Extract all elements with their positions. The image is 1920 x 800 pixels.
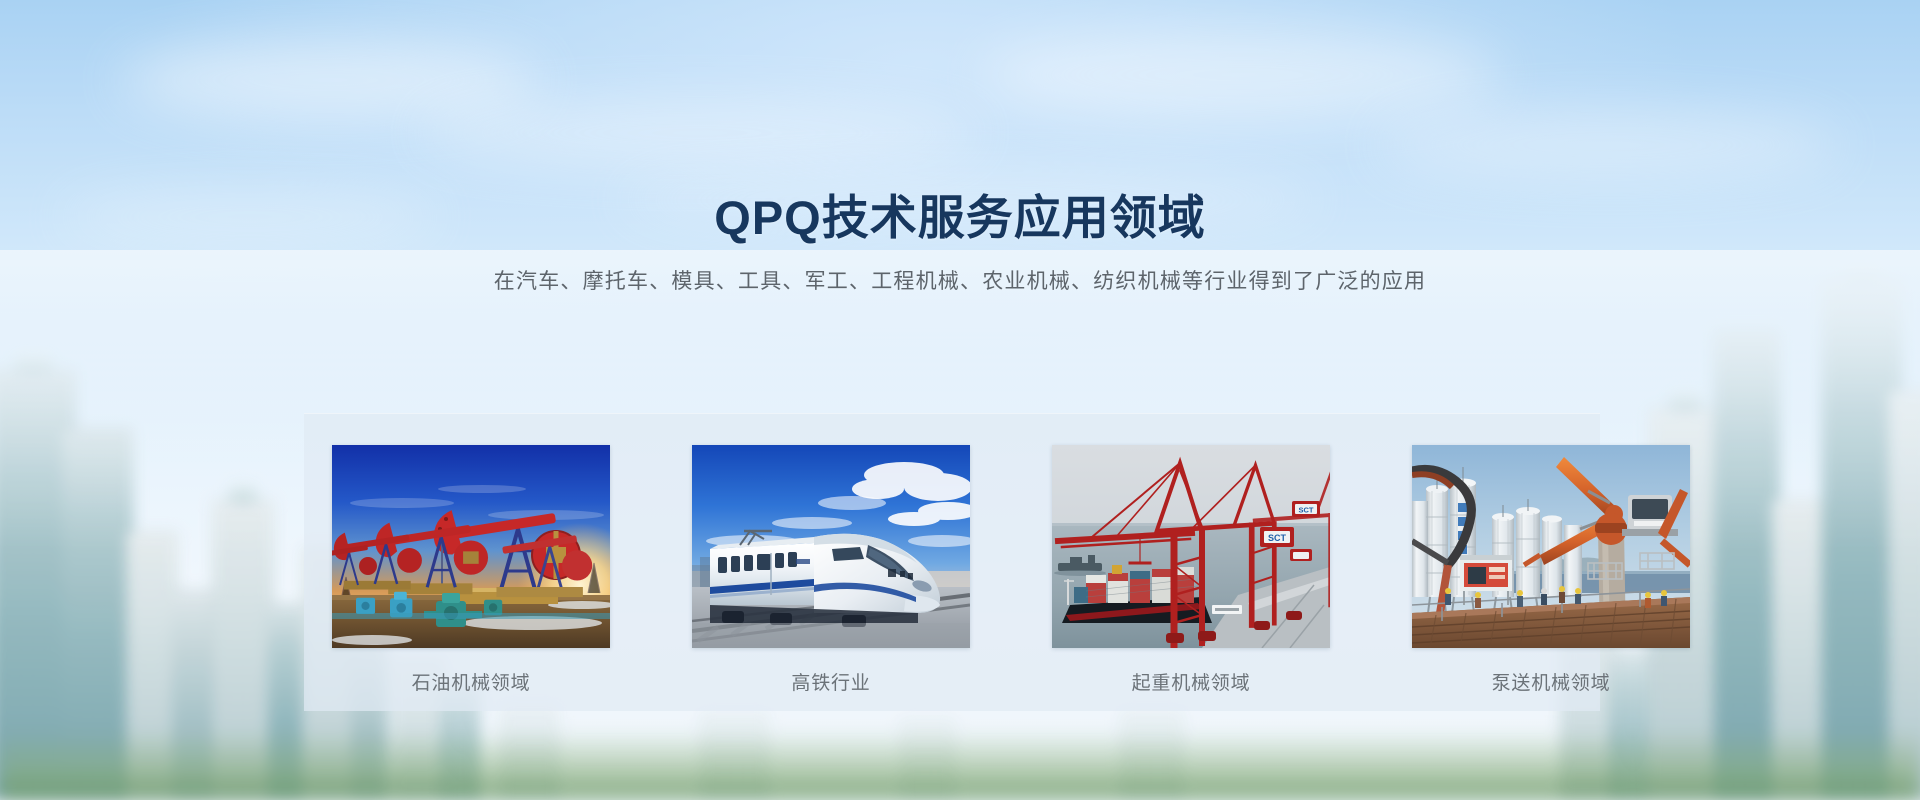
application-cards-list: 石油机械领域 — [332, 445, 1572, 695]
card-caption: 泵送机械领域 — [1412, 668, 1690, 695]
application-card[interactable]: 石油机械领域 — [332, 445, 610, 695]
svg-text:SCT: SCT — [1268, 533, 1287, 543]
oil-pumpjack-photo[interactable] — [332, 445, 610, 648]
card-caption: 石油机械领域 — [332, 668, 610, 695]
port-gantry-crane-photo[interactable]: SCT SCT — [1052, 445, 1330, 648]
card-caption: 起重机械领域 — [1052, 668, 1330, 695]
application-card[interactable]: 泵送机械领域 — [1412, 445, 1690, 695]
high-speed-train-photo[interactable] — [692, 445, 970, 648]
svg-text:SCT: SCT — [1299, 506, 1314, 515]
page-subtitle: 在汽车、摩托车、模具、工具、军工、工程机械、农业机械、纺织机械等行业得到了广泛的… — [0, 265, 1920, 295]
concrete-pump-photo[interactable] — [1412, 445, 1690, 648]
hero-content: QPQ技术服务应用领域 在汽车、摩托车、模具、工具、军工、工程机械、农业机械、纺… — [0, 0, 1920, 800]
page-title: QPQ技术服务应用领域 — [0, 192, 1920, 244]
application-card[interactable]: SCT SCT — [1052, 445, 1330, 695]
application-card[interactable]: 高铁行业 — [692, 445, 970, 695]
card-caption: 高铁行业 — [692, 668, 970, 695]
